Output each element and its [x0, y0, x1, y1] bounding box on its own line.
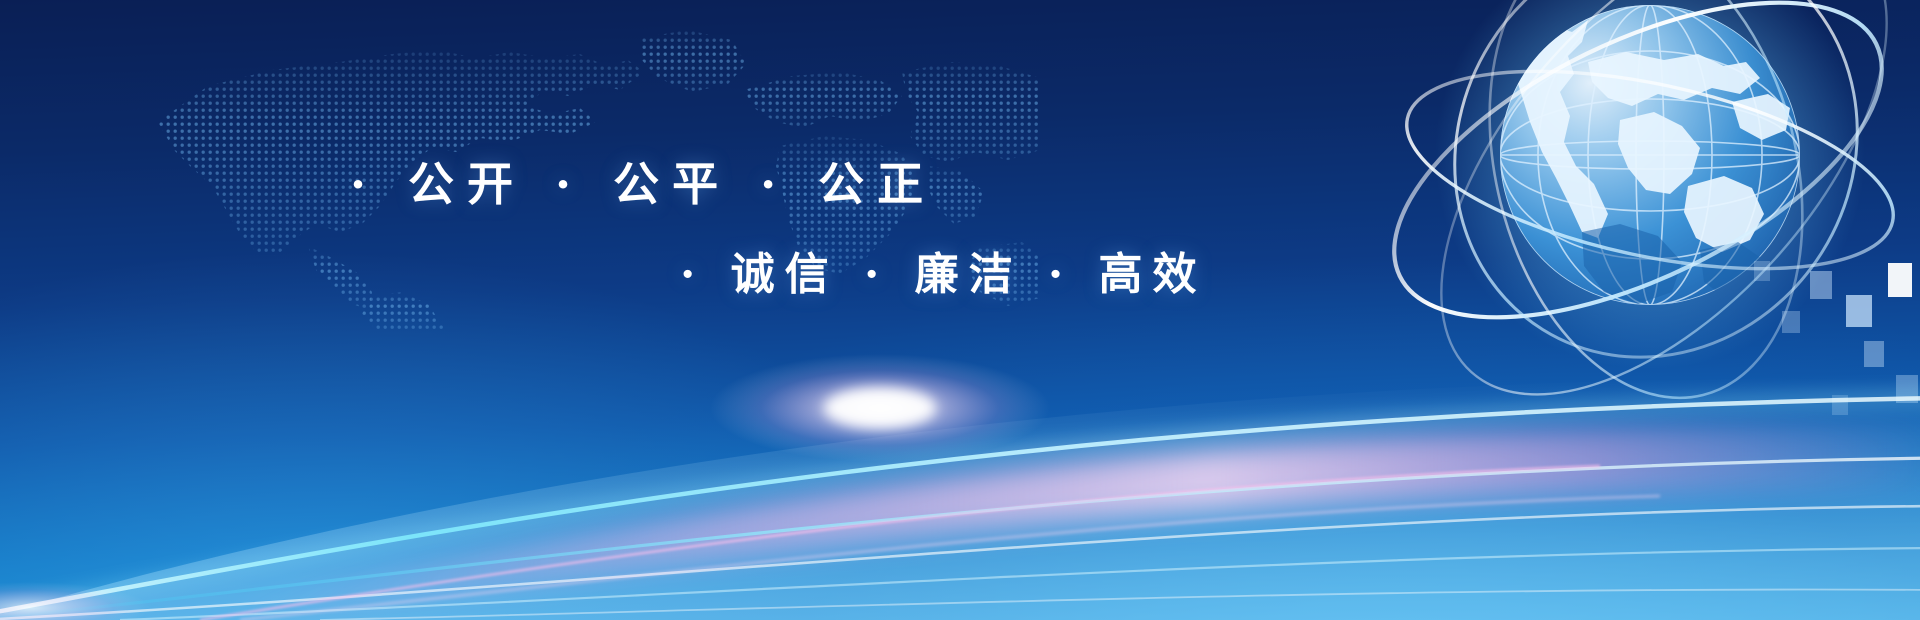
- square-6: [1896, 375, 1918, 403]
- banner-root: · 公开 · 公平 · 公正 · 诚信 · 廉洁 · 高效: [0, 0, 1920, 620]
- square-1: [1888, 263, 1912, 297]
- square-8: [1832, 395, 1848, 415]
- square-5: [1782, 311, 1800, 333]
- slogan-line-1: · 公开 · 公平 · 公正: [350, 148, 936, 214]
- slogan-line-2: · 诚信 · 廉洁 · 高效: [680, 238, 1207, 302]
- decorative-squares: [1660, 255, 1920, 465]
- square-2: [1846, 295, 1872, 327]
- square-7: [1754, 261, 1770, 281]
- square-3: [1810, 271, 1832, 299]
- square-4: [1864, 341, 1884, 367]
